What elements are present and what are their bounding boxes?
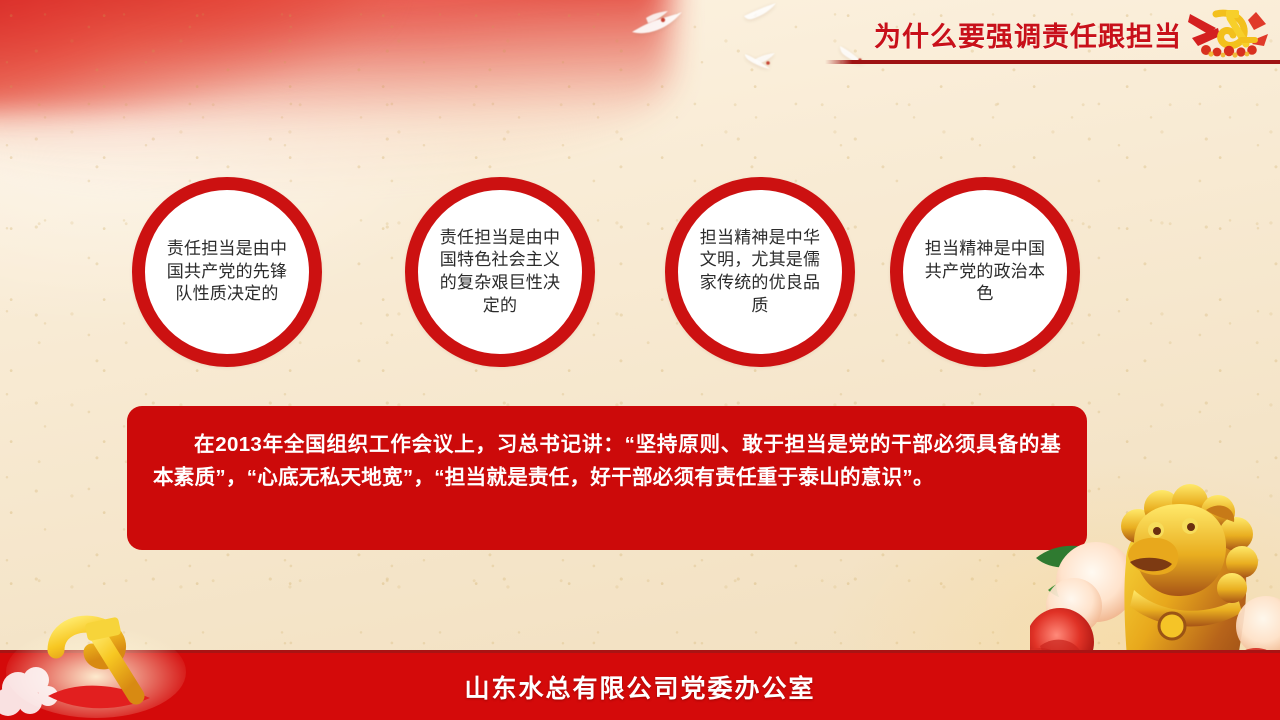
info-circle-4[interactable]: 担当精神是中国共产党的政治本色 <box>890 177 1080 367</box>
info-circle-4-text: 担当精神是中国共产党的政治本色 <box>918 238 1052 306</box>
circle-group: 责任担当是由中国共产党的先锋队性质决定的 责任担当是由中国特色社会主义的复杂艰巨… <box>0 0 1280 720</box>
footer-organization: 山东水总有限公司党委办公室 <box>464 669 815 705</box>
info-circle-1[interactable]: 责任担当是由中国共产党的先锋队性质决定的 <box>132 177 322 367</box>
info-circle-2-text: 责任担当是由中国特色社会主义的复杂艰巨性决定的 <box>433 227 567 317</box>
quote-box: 在2013年全国组织工作会议上，习总书记讲：“坚持原则、敢于担当是党的干部必须具… <box>127 406 1087 550</box>
info-circle-3-text: 担当精神是中华文明，尤其是儒家传统的优良品质 <box>693 227 827 317</box>
info-circle-2[interactable]: 责任担当是由中国特色社会主义的复杂艰巨性决定的 <box>405 177 595 367</box>
info-circle-3[interactable]: 担当精神是中华文明，尤其是儒家传统的优良品质 <box>665 177 855 367</box>
slide-canvas: 为什么要强调责任跟担当 <box>0 0 1280 720</box>
footer-bar: 山东水总有限公司党委办公室 <box>0 650 1280 720</box>
info-circle-1-text: 责任担当是由中国共产党的先锋队性质决定的 <box>160 238 294 306</box>
quote-text: 在2013年全国组织工作会议上，习总书记讲：“坚持原则、敢于担当是党的干部必须具… <box>153 428 1061 494</box>
